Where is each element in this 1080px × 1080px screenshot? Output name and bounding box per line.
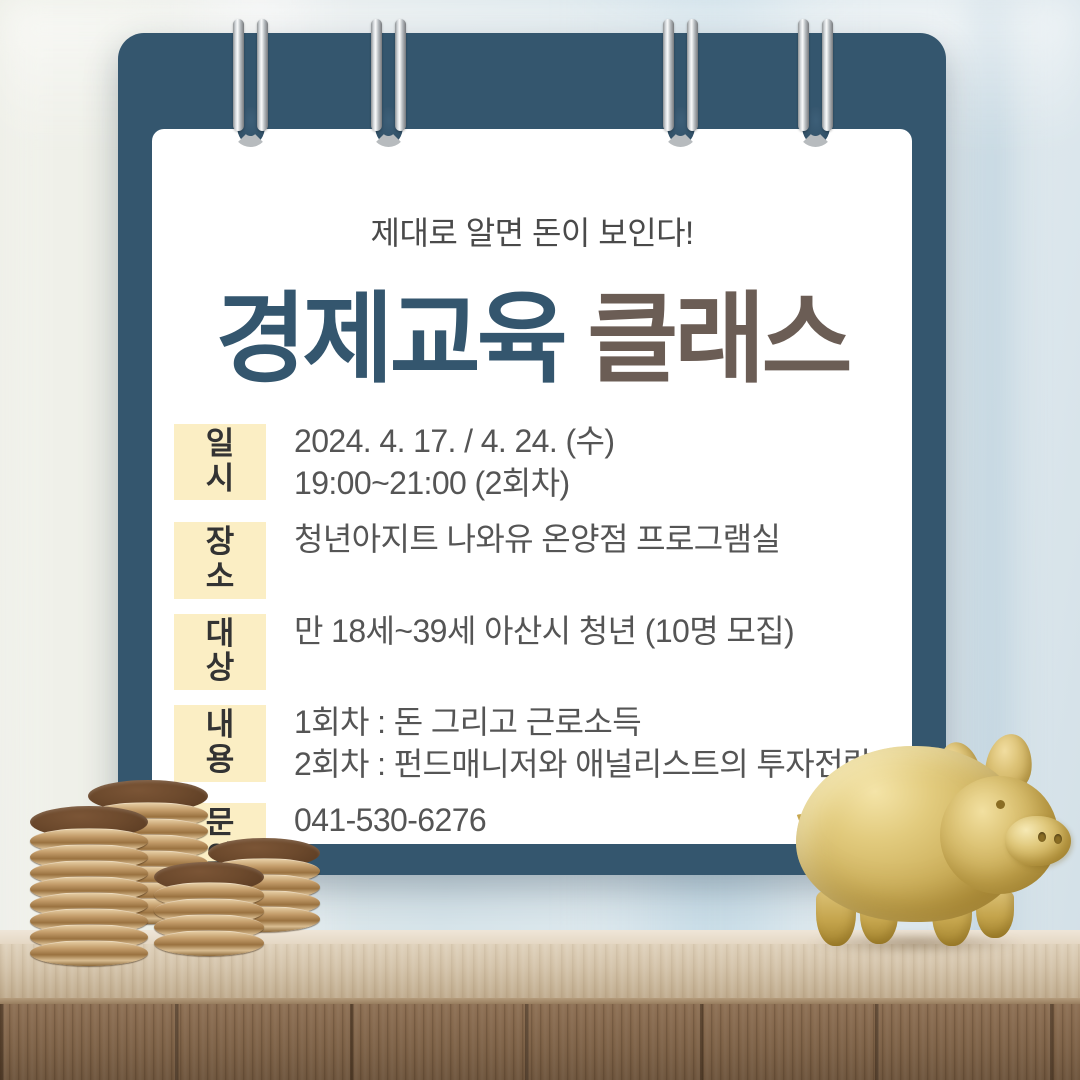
ring-wire-left bbox=[663, 19, 674, 131]
ring-wire-right bbox=[395, 19, 406, 131]
ring-wire-left bbox=[798, 19, 809, 131]
ring-wire-right bbox=[687, 19, 698, 131]
info-line: 2회차 : 펀드매니저와 애널리스트의 투자전략 bbox=[294, 744, 872, 786]
info-row-audience: 대 상 만 18세~39세 아산시 청년 (10명 모집) bbox=[174, 611, 934, 690]
info-line: 만 18세~39세 아산시 청년 (10명 모집) bbox=[294, 611, 794, 653]
ring-wire-right bbox=[257, 19, 268, 131]
page-title: 경제교육 클래스 bbox=[118, 258, 946, 402]
info-line: 2024. 4. 17. / 4. 24. (수) bbox=[294, 421, 614, 463]
info-row-datetime: 일 시 2024. 4. 17. / 4. 24. (수) 19:00~21:0… bbox=[174, 421, 934, 504]
piggy-eye bbox=[996, 800, 1005, 809]
info-value-location: 청년아지트 나와유 온양점 프로그램실 bbox=[294, 519, 780, 561]
piggy-bank-icon bbox=[790, 718, 1080, 956]
info-row-location: 장 소 청년아지트 나와유 온양점 프로그램실 bbox=[174, 519, 934, 598]
info-label-location: 장 소 bbox=[174, 522, 266, 598]
info-label-audience: 대 상 bbox=[174, 614, 266, 690]
ring-wire-right bbox=[822, 19, 833, 131]
info-value-datetime: 2024. 4. 17. / 4. 24. (수) 19:00~21:00 (2… bbox=[294, 421, 614, 504]
ring-wire-left bbox=[233, 19, 244, 131]
spiral-binding bbox=[0, 0, 1080, 200]
coin-stacks bbox=[10, 770, 340, 960]
info-line: 1회차 : 돈 그리고 근로소득 bbox=[294, 702, 872, 744]
info-value-audience: 만 18세~39세 아산시 청년 (10명 모집) bbox=[294, 611, 794, 653]
info-line: 청년아지트 나와유 온양점 프로그램실 bbox=[294, 519, 780, 561]
coin bbox=[30, 940, 148, 966]
coin bbox=[154, 930, 264, 956]
subheadline: 제대로 알면 돈이 보인다! bbox=[118, 208, 946, 254]
table-front-panel bbox=[0, 1004, 1080, 1080]
info-label-datetime: 일 시 bbox=[174, 424, 266, 500]
title-part-economy: 경제교육 bbox=[215, 283, 563, 394]
spiral-ring-icon bbox=[663, 19, 699, 149]
title-part-class: 클래스 bbox=[587, 283, 848, 394]
spiral-ring-icon bbox=[233, 19, 269, 149]
spiral-ring-icon bbox=[798, 19, 834, 149]
piggy-nostril bbox=[1054, 834, 1062, 844]
spiral-ring-icon bbox=[371, 19, 407, 149]
info-line: 19:00~21:00 (2회차) bbox=[294, 463, 614, 505]
ring-wire-left bbox=[371, 19, 382, 131]
piggy-nostril bbox=[1038, 832, 1046, 842]
info-value-curriculum: 1회차 : 돈 그리고 근로소득 2회차 : 펀드매니저와 애널리스트의 투자전… bbox=[294, 702, 872, 785]
